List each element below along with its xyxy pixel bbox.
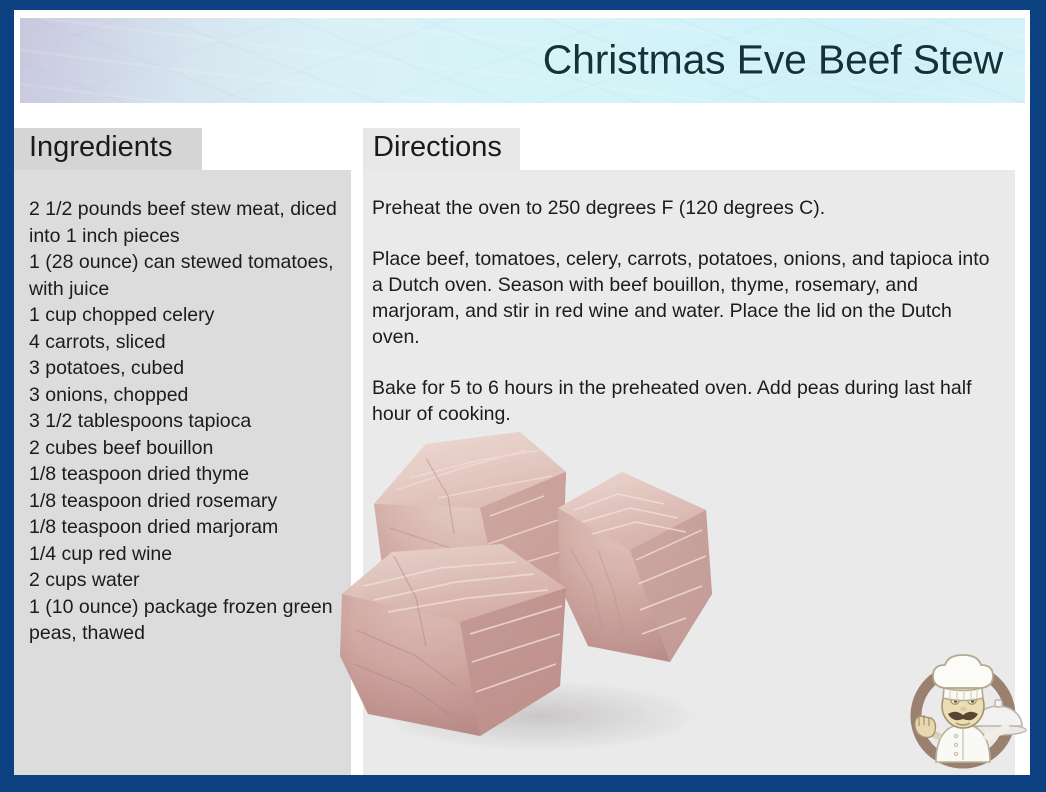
ingredients-list: 2 1/2 pounds beef stew meat, diced into … — [29, 196, 343, 647]
frame-border-top — [0, 0, 1046, 10]
frame-border-left — [0, 0, 14, 792]
directions-steps: Preheat the oven to 250 degrees F (120 d… — [372, 195, 1003, 427]
ingredients-panel: 2 1/2 pounds beef stew meat, diced into … — [14, 170, 351, 775]
directions-heading: Directions — [373, 131, 502, 163]
frame-border-bottom — [0, 775, 1046, 792]
chef-mascot-logo — [898, 644, 1028, 774]
list-item: 1/8 teaspoon dried rosemary — [29, 488, 343, 515]
list-item: 3 1/2 tablespoons tapioca — [29, 408, 343, 435]
chef-waving-hand — [915, 715, 936, 737]
list-item: 1/4 cup red wine — [29, 541, 343, 568]
direction-step: Place beef, tomatoes, celery, carrots, p… — [372, 246, 1003, 350]
page-title: Christmas Eve Beef Stew — [543, 39, 1003, 80]
list-item: 3 potatoes, cubed — [29, 355, 343, 382]
list-item: 1/8 teaspoon dried thyme — [29, 461, 343, 488]
list-item: 1 (10 ounce) package frozen green peas, … — [29, 594, 343, 647]
header-banner: Christmas Eve Beef Stew — [20, 18, 1025, 103]
list-item: 1 (28 ounce) can stewed tomatoes, with j… — [29, 249, 343, 302]
direction-step: Preheat the oven to 250 degrees F (120 d… — [372, 195, 1003, 221]
list-item: 1/8 teaspoon dried marjoram — [29, 514, 343, 541]
list-item: 3 onions, chopped — [29, 382, 343, 409]
directions-tab: Directions — [363, 128, 520, 170]
list-item: 2 1/2 pounds beef stew meat, diced into … — [29, 196, 343, 249]
list-item: 2 cups water — [29, 567, 343, 594]
list-item: 1 cup chopped celery — [29, 302, 343, 329]
recipe-slide: Christmas Eve Beef Stew Ingredients 2 1/… — [0, 0, 1046, 792]
ingredients-tab: Ingredients — [14, 128, 202, 170]
chef-hat-icon — [933, 655, 993, 701]
list-item: 4 carrots, sliced — [29, 329, 343, 356]
ingredients-heading: Ingredients — [29, 131, 173, 163]
list-item: 2 cubes beef bouillon — [29, 435, 343, 462]
direction-step: Bake for 5 to 6 hours in the preheated o… — [372, 375, 1003, 427]
frame-border-right — [1030, 0, 1046, 792]
